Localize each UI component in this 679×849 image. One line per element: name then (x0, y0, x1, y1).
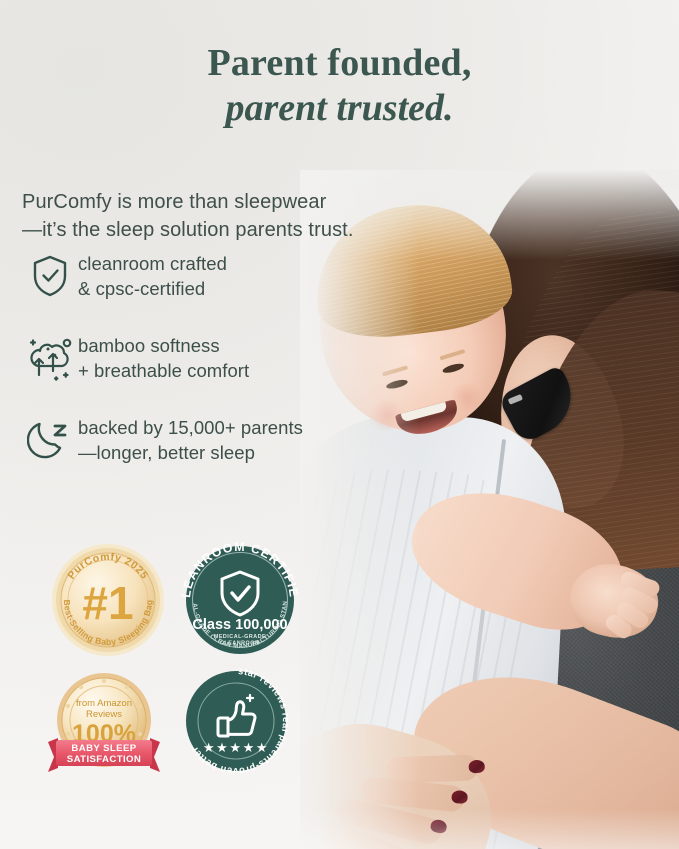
feature-text: backed by 15,000+ parents —longer, bette… (78, 414, 303, 466)
feature-line-1: bamboo softness (78, 334, 249, 359)
subheading: PurComfy is more than sleepwear —it’s th… (22, 188, 394, 245)
child-eye-right (442, 362, 465, 375)
page-title: Parent founded, parent trusted. (0, 43, 679, 129)
ribbon-line-1: BABY SLEEP (71, 743, 136, 754)
feature-line-1: backed by 15,000+ parents (78, 416, 303, 441)
feature-item-cleanroom: cleanroom crafted & cpsc-certified (22, 250, 352, 302)
subheading-line-1: PurComfy is more than sleepwear (22, 188, 394, 216)
feature-line-2: + breathable comfort (78, 359, 249, 384)
feature-text: cleanroom crafted & cpsc-certified (78, 250, 227, 302)
badge-top-line-2: Reviews (86, 709, 122, 720)
shield-check-icon (22, 250, 78, 302)
photo-bottom-fade (300, 809, 679, 849)
badge-center-value: #1 (82, 577, 133, 629)
ribbon-line-2: SATISFACTION (67, 754, 141, 765)
cleanroom-certified-badge: CLEANROOM CERTIFIED MEDICAL-GRADE CLEAN … (174, 533, 306, 666)
badge-sub-line-2: CLEANROOM (220, 641, 260, 647)
badge-center-value: Class 100,000 (192, 617, 287, 633)
feature-line-2: —longer, better sleep (78, 441, 303, 466)
headline-line-1: Parent founded, (0, 43, 679, 84)
subheading-line-2: —it’s the sleep solution parents trust. (22, 216, 394, 244)
star-rating: ★★★★★ (203, 740, 269, 755)
reviews-badge: 15,000+ 5 star reviews real parents-prov… (174, 666, 306, 799)
moon-sleep-icon (22, 414, 78, 466)
feature-item-bamboo: bamboo softness + breathable comfort (22, 332, 352, 384)
badge-sub-line-1: MEDICAL-GRADE (214, 634, 266, 640)
feature-line-2: & cpsc-certified (78, 277, 227, 302)
feature-line-1: cleanroom crafted (78, 252, 227, 277)
best-seller-badge: PurComfy 2025 Best-Selling Baby Sleeping… (42, 533, 174, 666)
marketing-hero-panel: Parent founded, parent trusted. PurComfy… (0, 0, 679, 849)
hero-photo (300, 170, 679, 849)
child-brow-right (439, 349, 465, 360)
fingernail (451, 790, 468, 804)
headline-line-2: parent trusted. (0, 88, 679, 129)
amazon-satisfaction-badge: from Amazon Reviews 100% BABY SLEEP SATI… (42, 666, 174, 799)
feature-list: cleanroom crafted & cpsc-certified (22, 250, 352, 496)
feature-text: bamboo softness + breathable comfort (78, 332, 249, 384)
badge-top-line-1: from Amazon (76, 698, 132, 709)
breathable-cloud-icon (22, 332, 78, 384)
trust-badge-grid: PurComfy 2025 Best-Selling Baby Sleeping… (42, 533, 307, 786)
feature-item-sleep: backed by 15,000+ parents —longer, bette… (22, 414, 352, 466)
